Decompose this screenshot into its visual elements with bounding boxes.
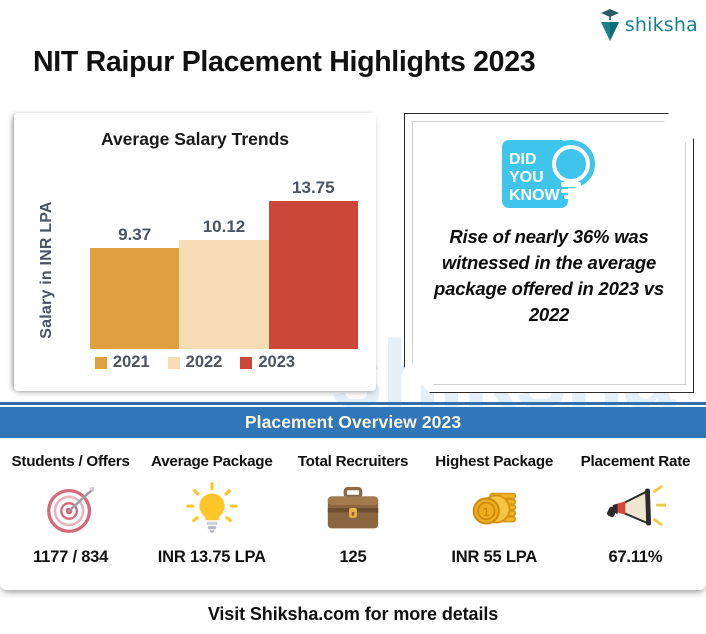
did-you-know-text: Rise of nearly 36% was witnessed in the … — [427, 224, 671, 328]
legend-swatch — [95, 357, 107, 369]
footer-text: Visit Shiksha.com for more details — [0, 604, 706, 625]
lightbulb-icon — [181, 478, 243, 540]
overview-column-header-2: Average Package — [141, 453, 282, 470]
legend-label: 2021 — [113, 353, 150, 372]
chart-title: Average Salary Trends — [14, 129, 376, 150]
overview-column-header-1: Students / Offers — [0, 453, 141, 470]
overview-column-header-4: Highest Package — [424, 453, 565, 470]
banner-top-rule — [0, 402, 706, 405]
overview-header-row: Students / OffersAverage PackageTotal Re… — [0, 448, 706, 474]
bar-rect — [179, 240, 268, 349]
banner-label: Placement Overview 2023 — [245, 412, 461, 433]
bar-rect — [90, 248, 179, 349]
overview-stat-5: 67.11% — [565, 478, 706, 567]
chart-legend: 202120222023 — [14, 353, 376, 372]
svg-text:?: ? — [575, 189, 585, 208]
svg-text:KNOW: KNOW — [509, 187, 561, 204]
overview-stat-value: 67.11% — [608, 548, 662, 567]
page-title: NIT Raipur Placement Highlights 2023 — [33, 46, 535, 79]
legend-label: 2022 — [186, 353, 223, 372]
chart-plot-area: 9.3710.1213.75 — [90, 161, 358, 349]
placement-overview-card: Students / OffersAverage PackageTotal Re… — [0, 440, 706, 590]
coins-icon: 1 — [463, 478, 525, 540]
legend-swatch — [240, 357, 252, 369]
svg-text:DID: DID — [509, 151, 537, 168]
chart-y-axis-label: Salary in INR LPA — [38, 185, 56, 355]
svg-text:1: 1 — [483, 506, 490, 519]
bar-value-label: 13.75 — [269, 178, 358, 198]
legend-item-2021[interactable]: 2021 — [95, 353, 150, 372]
target-icon — [40, 478, 102, 540]
overview-stat-2: INR 13.75 LPA — [141, 478, 282, 567]
overview-value-row: 1177 / 834INR 13.75 LPA1251INR 55 LPA67.… — [0, 478, 706, 586]
legend-item-2022[interactable]: 2022 — [168, 353, 223, 372]
legend-item-2023[interactable]: 2023 — [240, 353, 295, 372]
megaphone-icon — [604, 478, 666, 540]
chart-bar-2021: 9.37 — [90, 161, 179, 349]
bar-rect — [269, 201, 358, 349]
salary-trends-chart-card: Average Salary Trends Salary in INR LPA … — [14, 113, 376, 391]
did-you-know-inner: DID YOU KNOW ? Rise of nearly 36% was wi… — [412, 121, 686, 385]
overview-column-header-5: Placement Rate — [565, 453, 706, 470]
bar-value-label: 10.12 — [179, 217, 268, 237]
overview-stat-4: 1INR 55 LPA — [424, 478, 565, 567]
overview-stat-value: 125 — [340, 548, 367, 567]
overview-stat-value: INR 13.75 LPA — [158, 548, 266, 567]
overview-stat-1: 1177 / 834 — [0, 478, 141, 567]
shiksha-logo: shiksha — [597, 6, 698, 44]
logo-wordmark: shiksha — [625, 14, 698, 36]
chart-bars: 9.3710.1213.75 — [90, 161, 358, 349]
svg-text:YOU: YOU — [509, 169, 544, 186]
graduation-cap-icon — [597, 8, 623, 42]
chart-bar-2022: 10.12 — [179, 161, 268, 349]
legend-swatch — [168, 357, 180, 369]
chart-bar-2023: 13.75 — [269, 161, 358, 349]
overview-stat-value: INR 55 LPA — [451, 548, 537, 567]
placement-overview-banner: Placement Overview 2023 — [0, 407, 706, 438]
legend-label: 2023 — [258, 353, 295, 372]
overview-stat-value: 1177 / 834 — [33, 548, 108, 567]
briefcase-icon — [322, 478, 384, 540]
did-you-know-badge: DID YOU KNOW ? — [493, 134, 605, 214]
overview-column-header-3: Total Recruiters — [282, 453, 423, 470]
bar-value-label: 9.37 — [90, 225, 179, 245]
did-you-know-card: DID YOU KNOW ? Rise of nearly 36% was wi… — [404, 113, 694, 393]
overview-stat-3: 125 — [282, 478, 423, 567]
